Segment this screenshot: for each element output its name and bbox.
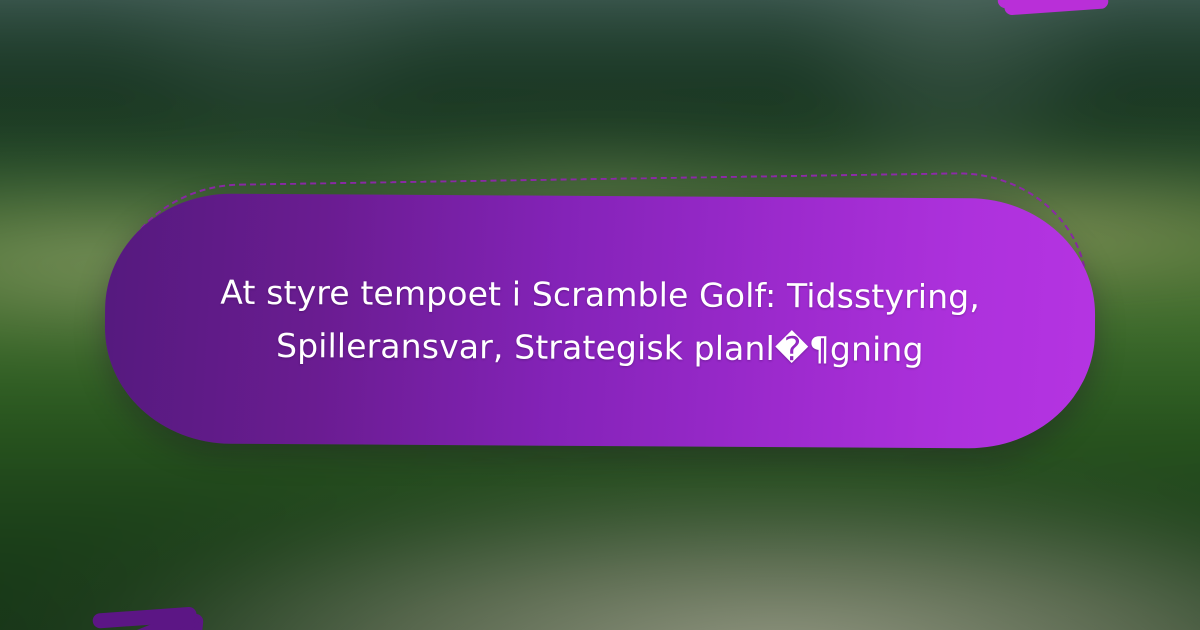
social-card-canvas: At styre tempoet i Scramble Golf: Tidsst… — [0, 0, 1200, 630]
page-title-line-2: Spilleransvar, Strategisk planl�¶gning — [276, 326, 924, 369]
title-card: At styre tempoet i Scramble Golf: Tidsst… — [104, 193, 1096, 449]
page-title: At styre tempoet i Scramble Golf: Tidsst… — [175, 265, 1026, 377]
page-title-line-1: At styre tempoet i Scramble Golf: Tidsst… — [220, 272, 980, 316]
